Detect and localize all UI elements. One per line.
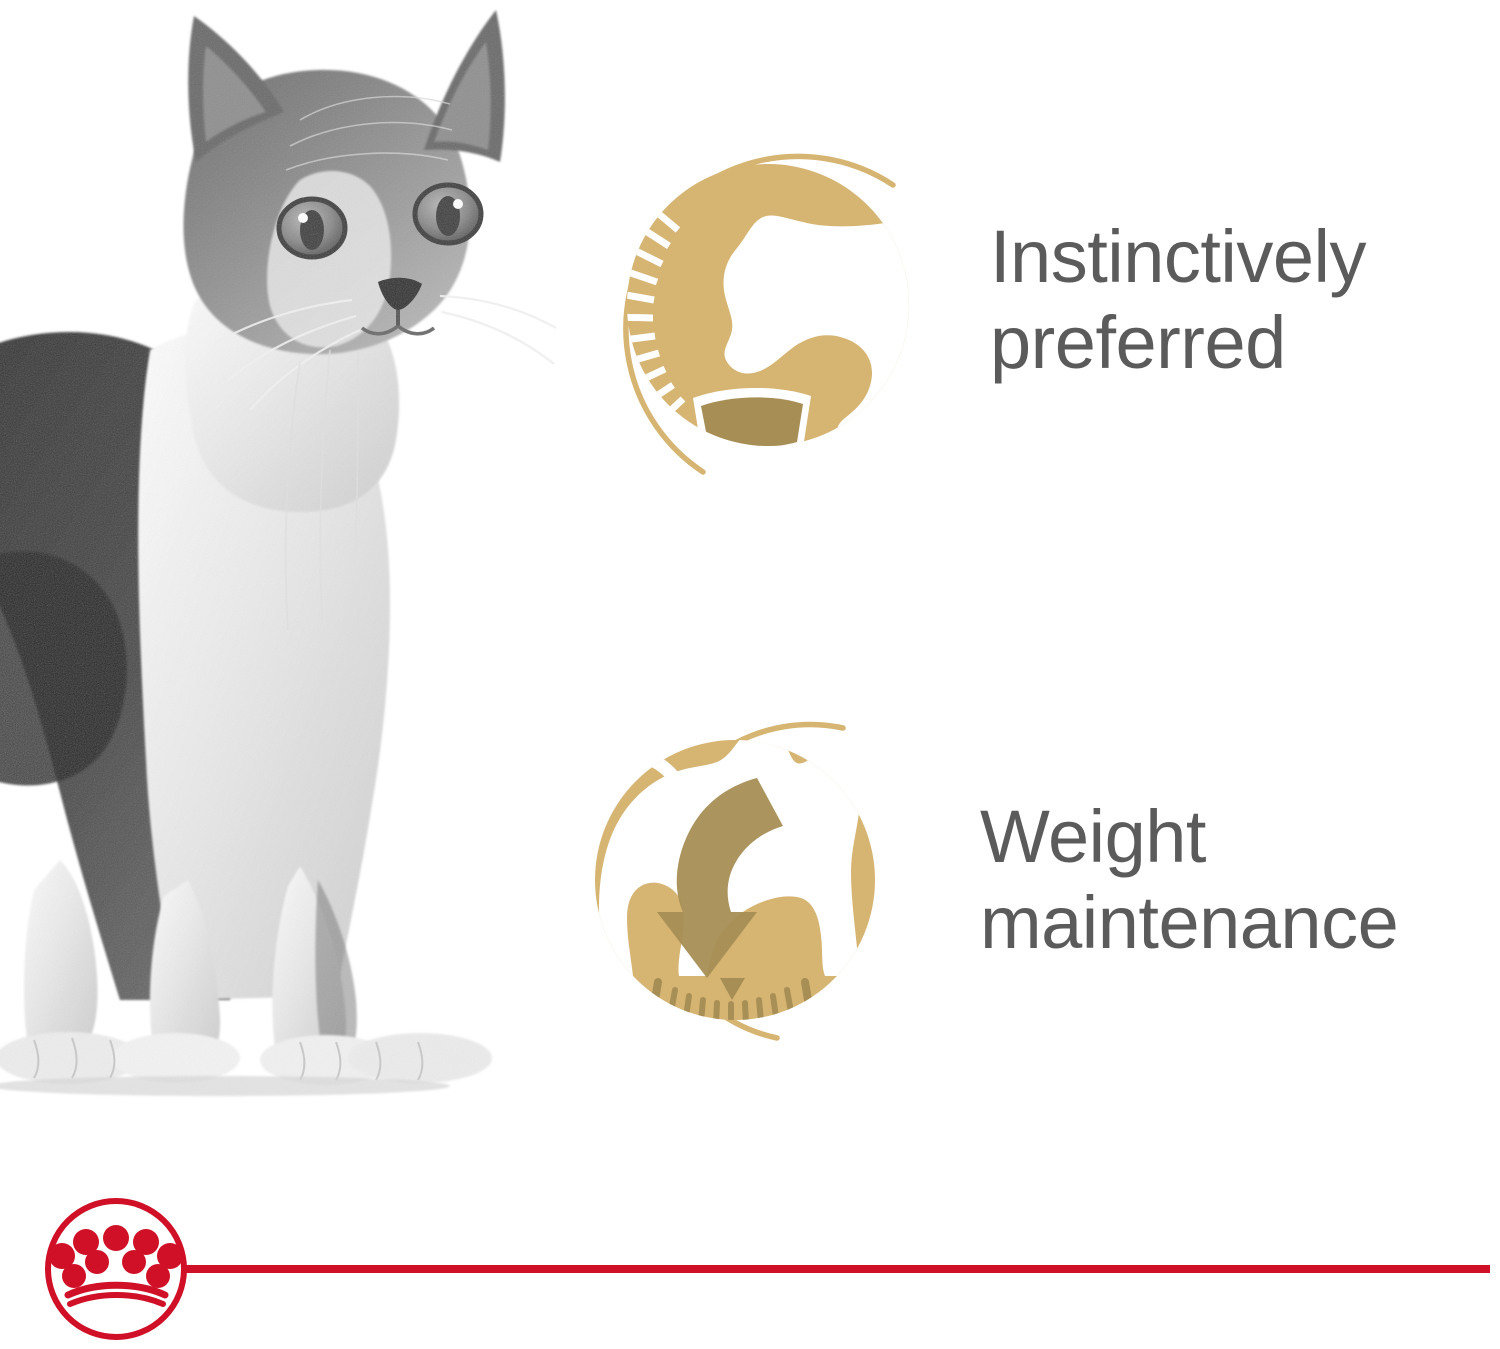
brand-footer: [0, 1180, 1500, 1349]
cat-eating-from-bowl-icon: [575, 100, 945, 500]
benefit-label-weight-maintenance: Weight maintenance: [980, 794, 1398, 966]
benefit-label-instinctively-preferred: Instinctively preferred: [990, 214, 1366, 386]
cat-weight-scale-down-arrow-icon: [555, 690, 905, 1070]
product-feature-panel: Instinctively preferred: [0, 0, 1500, 1349]
benefit-row-weight-maintenance: Weight maintenance: [555, 690, 1485, 1070]
hero-kitten-photo: [0, 0, 560, 1130]
benefit-row-instinctively-preferred: Instinctively preferred: [575, 100, 1485, 500]
